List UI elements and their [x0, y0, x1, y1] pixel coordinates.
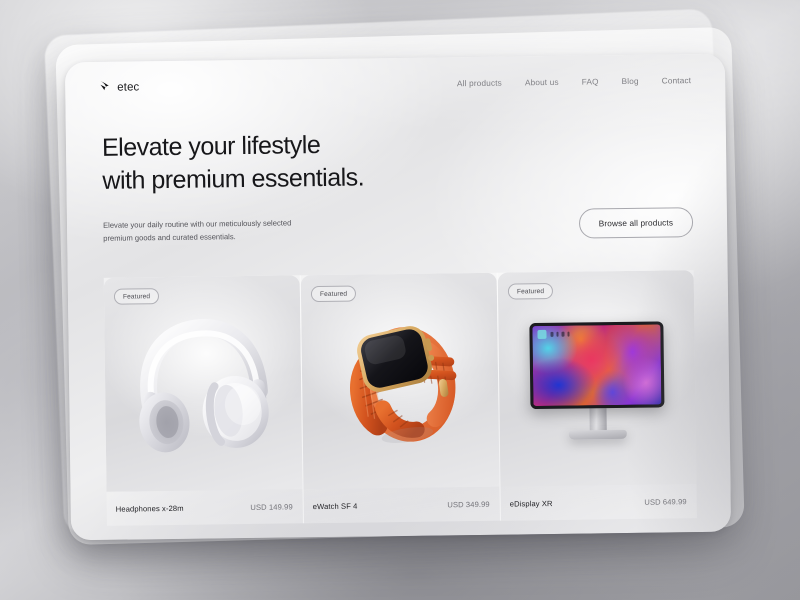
monitor-screen [529, 321, 664, 409]
product-image-ewatch [301, 273, 500, 490]
headphones-illustration [104, 275, 303, 492]
nav-item-blog[interactable]: Blog [622, 76, 639, 85]
brand-name: etec [117, 81, 139, 93]
hero-bottom-row: Elevate your daily routine with our meti… [103, 207, 693, 246]
nav-item-faq[interactable]: FAQ [582, 77, 599, 86]
product-meta-ewatch: eWatch SF 4 USD 349.99 [304, 487, 500, 524]
brand-logo[interactable]: etec [98, 78, 139, 97]
monitor-stand-neck [589, 408, 606, 430]
product-image-edisplay [498, 270, 697, 487]
nav-item-all-products[interactable]: All products [457, 78, 502, 88]
product-card-ewatch[interactable]: Featured [300, 273, 500, 524]
menu-bar-dots-icon [550, 332, 569, 337]
monitor-stand-foot [569, 430, 627, 440]
featured-badge: Featured [114, 288, 159, 305]
site-header: etec All products About us FAQ Blog Cont… [65, 54, 726, 115]
product-name: eDisplay XR [510, 498, 553, 508]
product-price: USD 649.99 [644, 497, 686, 507]
browse-all-products-button[interactable]: Browse all products [579, 207, 694, 238]
nav-item-about-us[interactable]: About us [525, 77, 559, 86]
website-mockup-card: etec All products About us FAQ Blog Cont… [65, 54, 731, 541]
product-meta-headphones: Headphones x-28m USD 149.99 [107, 489, 303, 526]
page-backdrop: etec All products About us FAQ Blog Cont… [0, 0, 800, 600]
headline-line-2: with premium essentials. [102, 157, 692, 198]
product-price: USD 349.99 [447, 499, 489, 509]
product-name: Headphones x-28m [116, 503, 184, 513]
hero-subtitle: Elevate your daily routine with our meti… [103, 217, 313, 246]
product-name: eWatch SF 4 [313, 501, 358, 511]
product-meta-edisplay: eDisplay XR USD 649.99 [500, 484, 696, 521]
featured-products-strip: Featured [104, 270, 697, 526]
product-image-headphones [104, 275, 303, 492]
featured-badge: Featured [508, 283, 553, 300]
page-title: Elevate your lifestyle with premium esse… [102, 124, 693, 198]
headline-line-1: Elevate your lifestyle [102, 131, 321, 162]
featured-badge: Featured [311, 286, 356, 303]
product-card-headphones[interactable]: Featured [104, 275, 303, 526]
desktop-tile-icon [537, 330, 546, 339]
smartwatch-illustration [301, 273, 500, 490]
product-card-edisplay[interactable]: Featured [497, 270, 697, 521]
product-price: USD 149.99 [250, 502, 292, 512]
arrow-chevron-mark-icon [98, 79, 111, 97]
hero-section: Elevate your lifestyle with premium esse… [102, 124, 693, 245]
monitor-illustration [498, 270, 697, 487]
main-navigation: All products About us FAQ Blog Contact [457, 76, 691, 88]
nav-item-contact[interactable]: Contact [662, 76, 692, 85]
